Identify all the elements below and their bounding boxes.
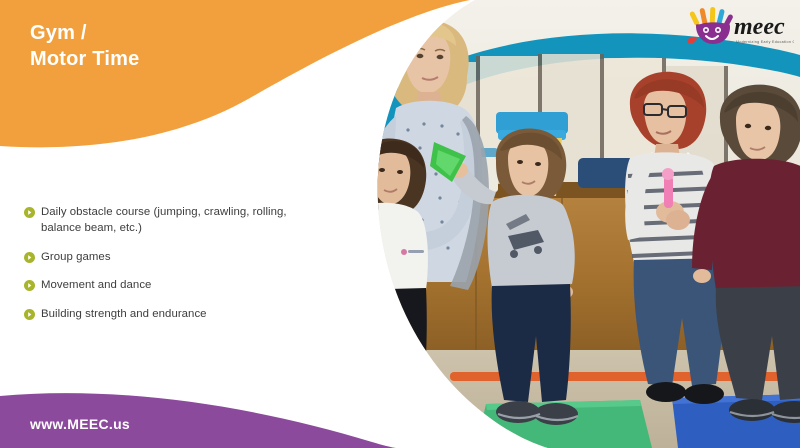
list-item-label: Building strength and endurance [41, 306, 207, 322]
meec-logo[interactable]: meec Modernizing Early Education Center [682, 4, 794, 50]
chevron-circle-icon [24, 280, 35, 291]
list-item: Movement and dance [24, 277, 290, 293]
website-url[interactable]: www.MEEC.us [30, 416, 130, 432]
list-item-label: Movement and dance [41, 277, 151, 293]
chevron-circle-icon [24, 309, 35, 320]
logo-tagline: Modernizing Early Education Center [736, 40, 794, 44]
list-item: Group games [24, 249, 290, 265]
list-item-label: Group games [41, 249, 111, 265]
handprint-palm [686, 22, 730, 44]
list-item-label: Daily obstacle course (jumping, crawling… [41, 204, 290, 237]
logo-wordmark: meec [734, 14, 785, 40]
chevron-circle-icon [24, 207, 35, 218]
child-yellow-paper [306, 139, 434, 431]
feature-bullet-list: Daily obstacle course (jumping, crawling… [24, 204, 290, 322]
list-item: Daily obstacle course (jumping, crawling… [24, 204, 290, 237]
slide-root: Gym / Motor Time Daily obstacle course (… [0, 0, 800, 448]
list-item: Building strength and endurance [24, 306, 290, 322]
yellow-paper [306, 196, 338, 236]
gym-classroom-photo [300, 0, 800, 448]
page-title: Gym / Motor Time [30, 20, 139, 73]
photo-panel [300, 0, 800, 448]
chevron-circle-icon [24, 252, 35, 263]
blue-balance-strip [378, 392, 448, 436]
